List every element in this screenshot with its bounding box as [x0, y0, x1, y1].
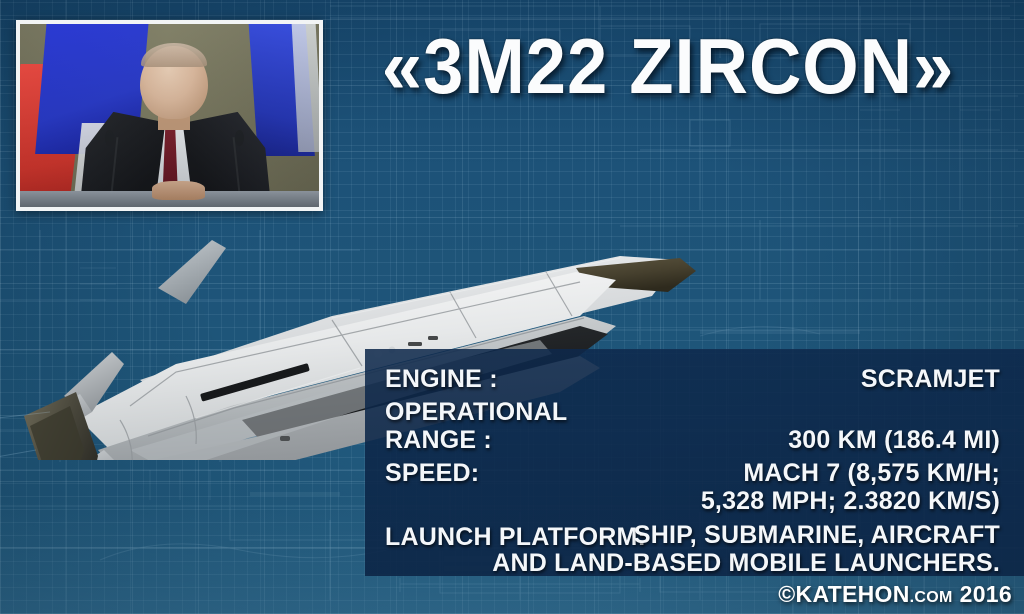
missile-upper-canard — [158, 240, 226, 304]
spec-label-engine: ENGINE : — [385, 365, 498, 393]
spec-row-launch-platform: LAUNCH PLATFORM: SHIP, SUBMARINE, AIRCRA… — [385, 523, 1000, 577]
spec-label-operational-range: OPERATIONAL RANGE : — [385, 398, 567, 454]
specifications-panel: ENGINE : SCRAMJET OPERATIONAL RANGE : 30… — [365, 349, 1024, 576]
copyright-watermark: ©KATEHON .COM 2016 — [778, 581, 1012, 608]
spec-label-launch-platform: LAUNCH PLATFORM: — [385, 523, 646, 551]
spec-row-operational-range: OPERATIONAL RANGE : 300 KM (186.4 MI) — [385, 398, 1000, 454]
spec-label-speed: SPEED: — [385, 459, 479, 487]
spec-row-engine: ENGINE : SCRAMJET — [385, 365, 1000, 393]
spec-row-speed: SPEED: MACH 7 (8,575 KM/H; 5,328 MPH; 2.… — [385, 459, 1000, 515]
spec-value-operational-range: 300 KM (186.4 MI) — [788, 426, 1000, 454]
spec-value-engine: SCRAMJET — [861, 365, 1000, 393]
watermark-year: 2016 — [960, 581, 1012, 608]
watermark-brand: ©KATEHON — [778, 581, 909, 608]
page-title: «3M22 ZIRCON» — [356, 18, 981, 114]
watermark-domain: .COM — [910, 589, 953, 607]
zircon-missile-infographic: «3M22 ZIRCON» — [0, 0, 1024, 614]
spec-value-speed: MACH 7 (8,575 KM/H; 5,328 MPH; 2.3820 KM… — [701, 459, 1000, 515]
